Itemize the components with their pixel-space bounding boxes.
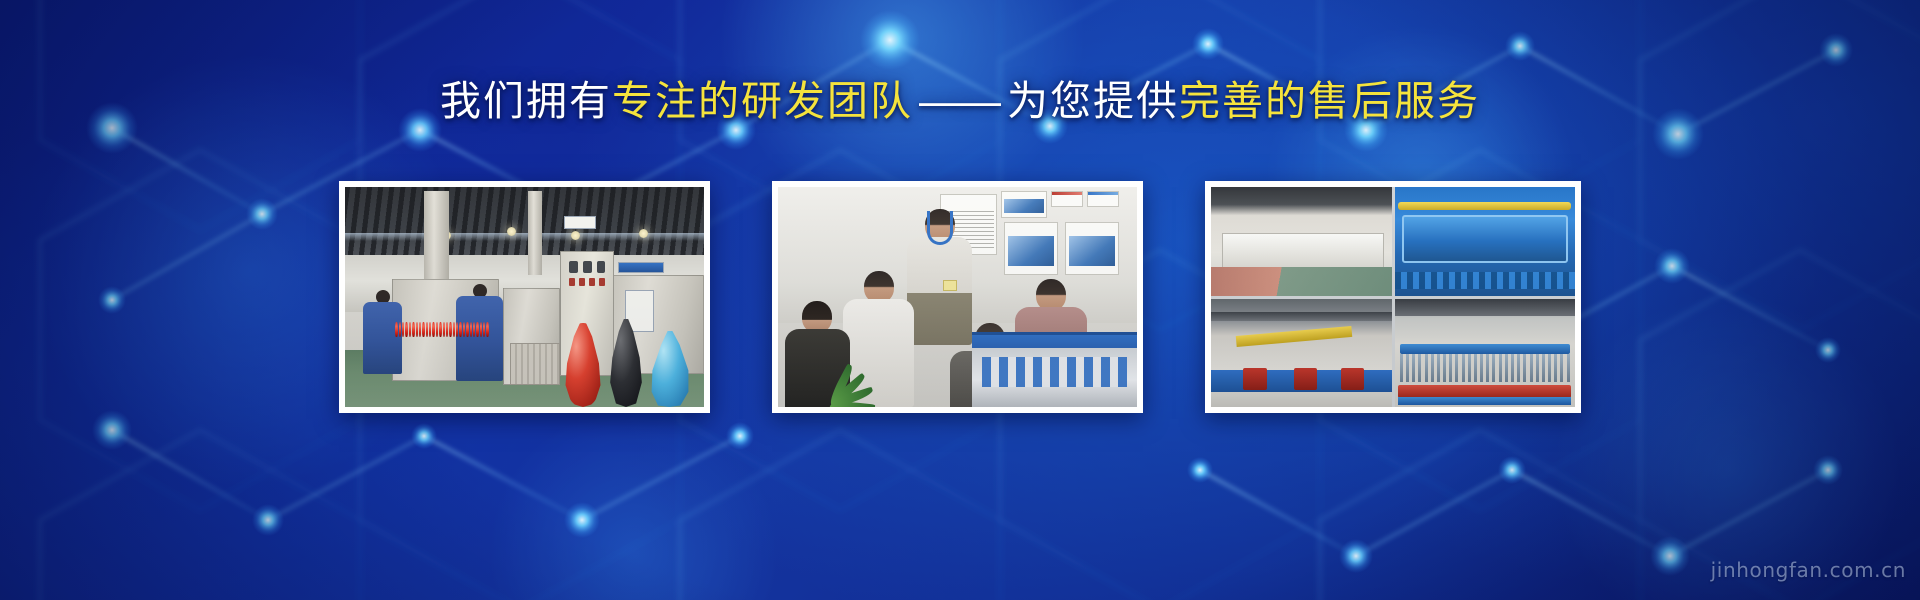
roof-beam (1395, 299, 1576, 316)
poster-image (1069, 236, 1115, 265)
poster-image (1004, 199, 1043, 213)
headline-separator: —— (913, 78, 1007, 124)
photo-card-technical-meeting[interactable] (772, 181, 1143, 413)
drying-tunnel (1402, 215, 1568, 263)
vase-black (608, 319, 644, 407)
lanyard-icon (927, 211, 953, 245)
vase-red (564, 323, 602, 407)
wall-sign (564, 216, 596, 229)
banner-headline: 我们拥有专注的研发团队——为您提供完善的售后服务 (0, 78, 1920, 125)
workshop-floor (1211, 267, 1392, 295)
control-buttons (569, 261, 605, 273)
machine-label (618, 262, 665, 273)
exhaust-duct (528, 191, 542, 275)
poster-header (1052, 192, 1082, 195)
worker-uniform (363, 302, 402, 374)
blue-base-rail (1398, 397, 1571, 405)
equipment-row (1222, 233, 1384, 270)
headline-segment-3: 为您提供 (1007, 78, 1179, 124)
factory-roof (345, 187, 704, 262)
blue-rail (1400, 344, 1570, 354)
exhaust-duct (424, 191, 449, 283)
photo-gallery (0, 181, 1920, 413)
photo-card-factory-collage[interactable] (1205, 181, 1581, 413)
indicator-lights (569, 278, 605, 286)
red-parts-row (395, 317, 488, 337)
red-cart (1294, 368, 1317, 390)
collage-tile-workshop (1211, 187, 1392, 296)
equipment-diagram (1004, 222, 1058, 275)
red-cart (1243, 368, 1266, 390)
promo-banner: 我们拥有专注的研发团队——为您提供完善的售后服务 (0, 0, 1920, 600)
overhead-crane (1236, 326, 1352, 347)
wall-poster-small (1051, 191, 1083, 206)
yellow-pipe (1398, 202, 1571, 210)
headline-segment-4: 完善的售后服务 (1179, 78, 1480, 124)
roof-beam (1211, 312, 1392, 322)
worker-uniform (456, 296, 503, 381)
wall-poster-small (1087, 191, 1119, 206)
poster-image (1008, 236, 1054, 265)
ceiling-lamp-icon (507, 227, 516, 236)
photo-production-line (345, 187, 704, 407)
equipment-diagram (1065, 222, 1119, 275)
person-head (864, 271, 894, 303)
vase-product-overlay (560, 311, 700, 407)
potted-plant (785, 343, 877, 407)
headline-segment-1: 我们拥有 (440, 78, 612, 124)
photo-technical-meeting (778, 187, 1137, 407)
collage-tile-conveyor (1211, 299, 1392, 408)
poster-header (1088, 192, 1118, 195)
parts-crate (510, 343, 560, 385)
photo-factory-collage (1211, 187, 1575, 407)
vase-blue (650, 331, 690, 407)
wall-photo-board (1001, 191, 1048, 217)
support-frame (1395, 272, 1576, 289)
headline-segment-2: 专注的研发团队 (612, 78, 913, 124)
collage-tile-drying-tunnel (1395, 187, 1576, 296)
photo-card-production-line[interactable] (339, 181, 710, 413)
site-watermark: jinhongfan.com.cn (1711, 558, 1906, 582)
collage-tile-hanger-line (1395, 299, 1576, 408)
machine-photo-inset (972, 332, 1137, 407)
id-badge (943, 280, 957, 291)
red-cart (1341, 368, 1364, 390)
hanger-hooks (1400, 354, 1570, 382)
